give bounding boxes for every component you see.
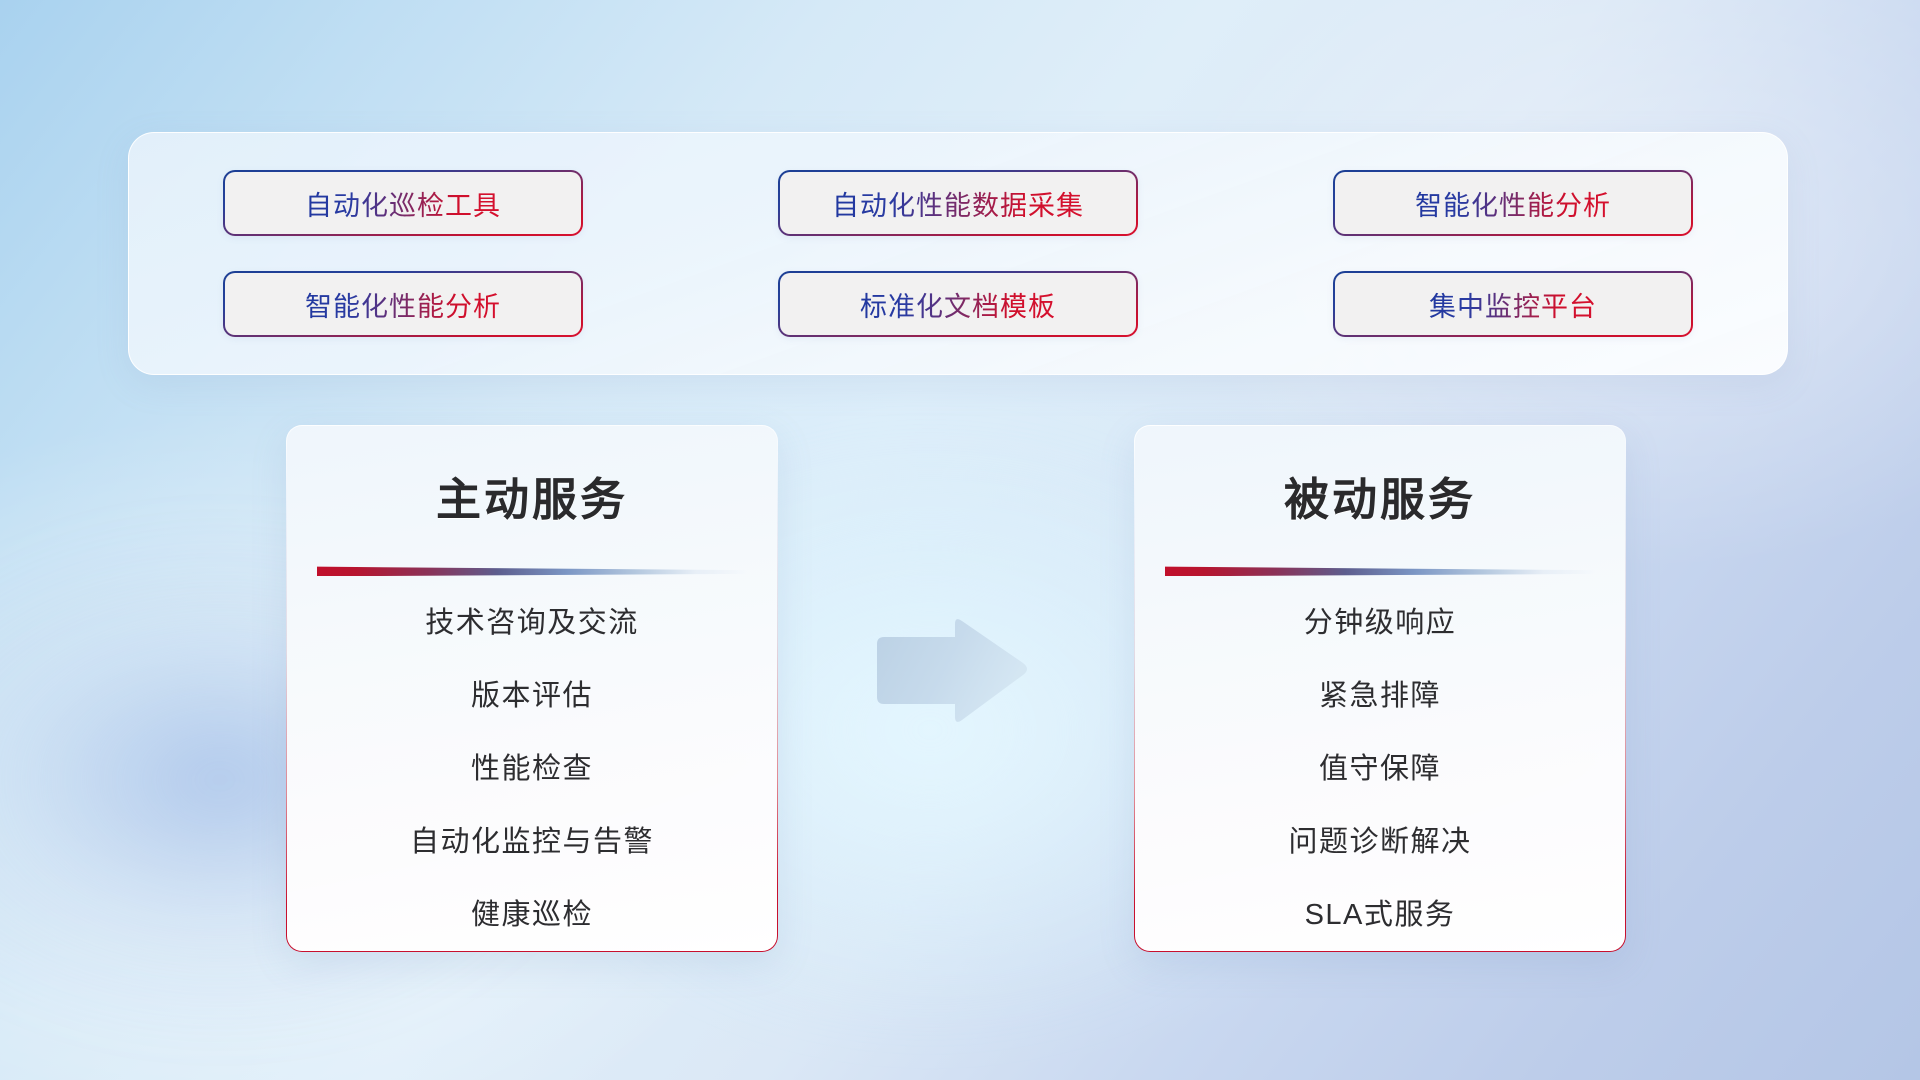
capability-pill-label: 标准化文档模板 bbox=[860, 285, 1056, 324]
capability-pill-label: 自动化性能数据采集 bbox=[832, 184, 1084, 223]
card-divider bbox=[1165, 565, 1595, 576]
card-item: SLA式服务 bbox=[1305, 901, 1456, 930]
capability-pill-5[interactable]: 标准化文档模板 bbox=[778, 271, 1138, 337]
capability-pill-label: 集中监控平台 bbox=[1429, 285, 1597, 324]
card-divider bbox=[317, 565, 747, 576]
slide-canvas: 自动化巡检工具 自动化性能数据采集 智能化性能分析 智能化性能分析 标准化文档模… bbox=[0, 0, 1920, 1080]
card-item: 分钟级响应 bbox=[1304, 609, 1457, 638]
card-item: 性能检查 bbox=[471, 755, 593, 784]
arrow-right-icon bbox=[871, 616, 1031, 728]
card-item: 自动化监控与告警 bbox=[410, 828, 654, 857]
capability-pill-1[interactable]: 自动化巡检工具 bbox=[223, 170, 583, 236]
card-item-list-reactive: 分钟级响应 紧急排障 值守保障 问题诊断解决 SLA式服务 bbox=[1135, 609, 1625, 930]
capability-pill-label: 自动化巡检工具 bbox=[305, 184, 501, 223]
capability-pill-3[interactable]: 智能化性能分析 bbox=[1333, 170, 1693, 236]
capability-pill-label: 智能化性能分析 bbox=[1415, 184, 1611, 223]
service-card-proactive: 主动服务 技术咨询及交流 版本评估 性能检查 自动化监控与告警 健康巡检 bbox=[286, 425, 778, 952]
capability-pill-label: 智能化性能分析 bbox=[305, 285, 501, 324]
capability-pill-4[interactable]: 智能化性能分析 bbox=[223, 271, 583, 337]
capability-panel: 自动化巡检工具 自动化性能数据采集 智能化性能分析 智能化性能分析 标准化文档模… bbox=[128, 132, 1788, 375]
service-card-reactive: 被动服务 分钟级响应 紧急排障 值守保障 问题诊断解决 SLA式服务 bbox=[1134, 425, 1626, 952]
card-item: 值守保障 bbox=[1319, 755, 1441, 784]
card-item: 问题诊断解决 bbox=[1288, 828, 1471, 857]
capability-pill-6[interactable]: 集中监控平台 bbox=[1333, 271, 1693, 337]
card-title-reactive: 被动服务 bbox=[1135, 463, 1625, 528]
capability-pill-2[interactable]: 自动化性能数据采集 bbox=[778, 170, 1138, 236]
card-item: 版本评估 bbox=[471, 682, 593, 711]
card-item: 健康巡检 bbox=[471, 901, 593, 930]
card-item: 技术咨询及交流 bbox=[425, 609, 639, 638]
card-item: 紧急排障 bbox=[1319, 682, 1441, 711]
card-title-proactive: 主动服务 bbox=[287, 463, 777, 528]
capability-pill-grid: 自动化巡检工具 自动化性能数据采集 智能化性能分析 智能化性能分析 标准化文档模… bbox=[223, 170, 1693, 337]
card-item-list-proactive: 技术咨询及交流 版本评估 性能检查 自动化监控与告警 健康巡检 bbox=[287, 609, 777, 930]
